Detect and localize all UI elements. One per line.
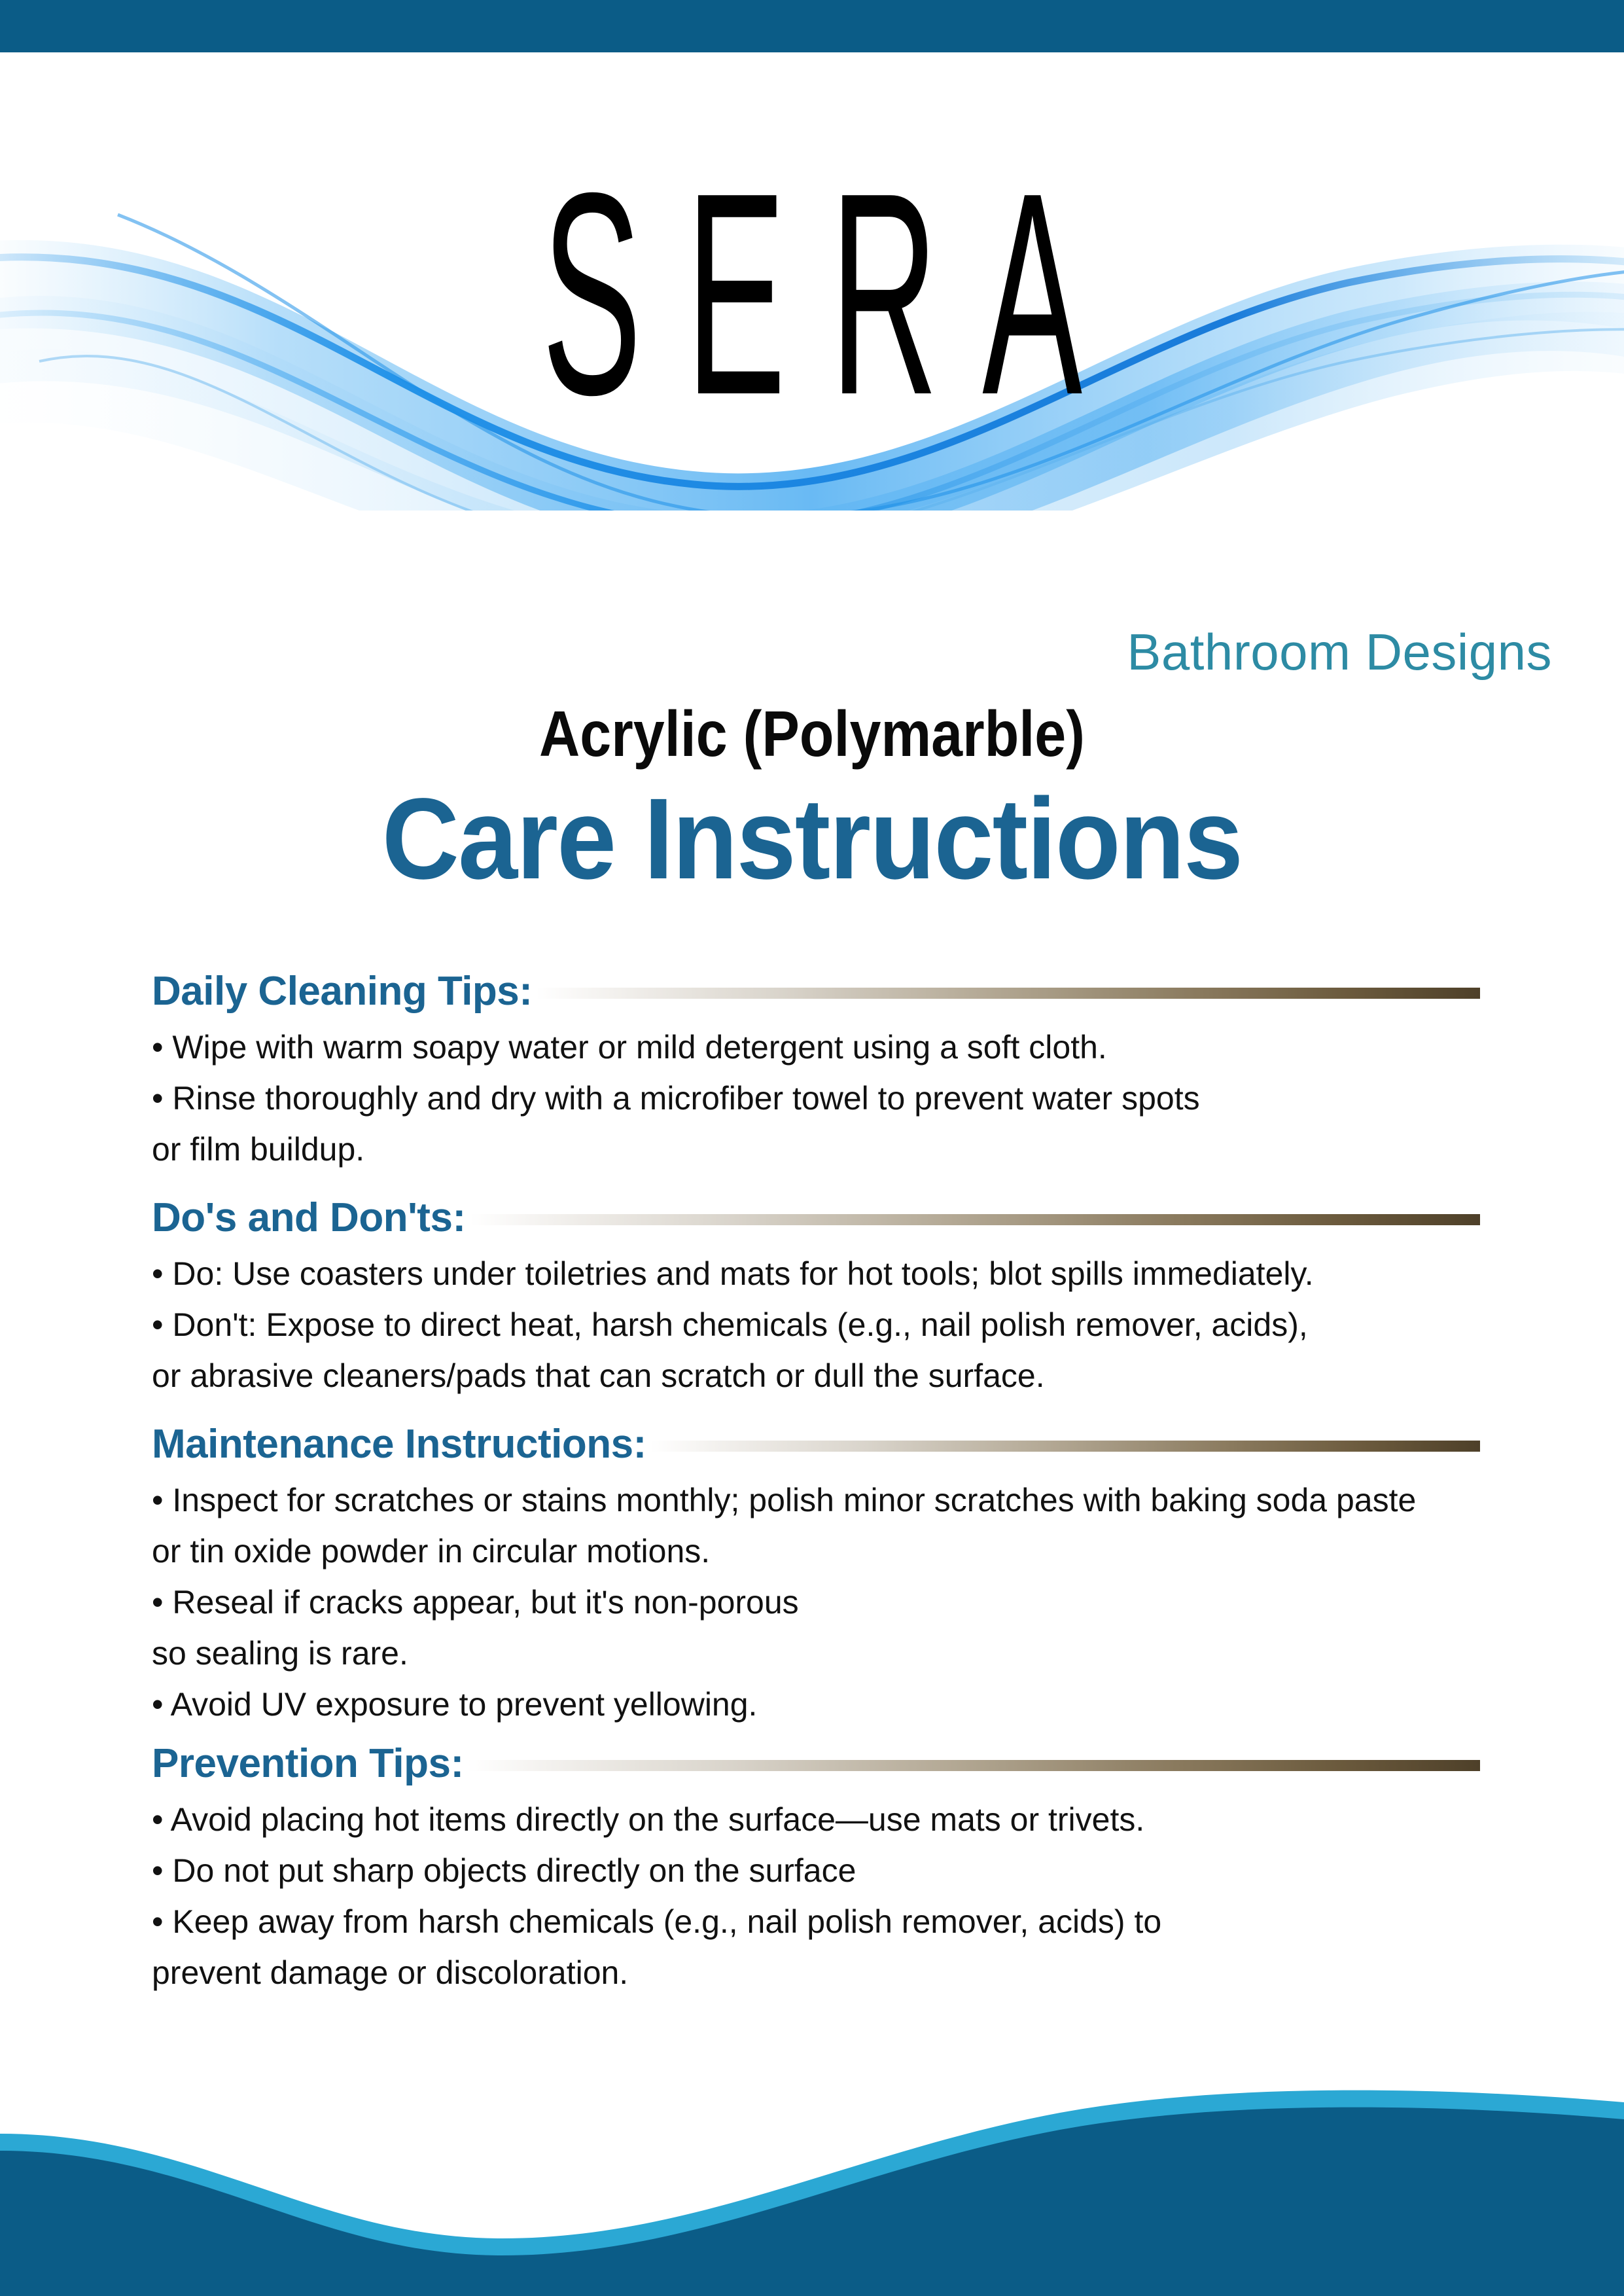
list-item-continuation: or film buildup. bbox=[152, 1126, 1480, 1173]
section-divider-rule bbox=[536, 988, 1480, 999]
list-item: • Do not put sharp objects directly on t… bbox=[152, 1847, 1480, 1894]
page-title: Care Instructions bbox=[57, 779, 1567, 899]
brand-logotype: SERA bbox=[390, 151, 1235, 439]
list-item: • Avoid UV exposure to prevent yellowing… bbox=[152, 1681, 1480, 1728]
list-item-continuation: or tin oxide powder in circular motions. bbox=[152, 1528, 1480, 1575]
brand-header: SERA Bathroom Designs bbox=[0, 52, 1624, 707]
list-item: • Keep away from harsh chemicals (e.g., … bbox=[152, 1898, 1480, 1945]
instructions-content: Daily Cleaning Tips: • Wipe with warm so… bbox=[152, 966, 1480, 2016]
section-title: Prevention Tips: bbox=[152, 1741, 464, 1787]
list-item: • Do: Use coasters under toiletries and … bbox=[152, 1250, 1480, 1297]
section-title: Maintenance Instructions: bbox=[152, 1422, 646, 1467]
section-header: Daily Cleaning Tips: bbox=[152, 966, 1480, 1017]
list-item: • Rinse thoroughly and dry with a microf… bbox=[152, 1075, 1480, 1122]
section-header: Prevention Tips: bbox=[152, 1738, 1480, 1789]
list-item: • Avoid placing hot items directly on th… bbox=[152, 1796, 1480, 1843]
section-header: Do's and Don'ts: bbox=[152, 1193, 1480, 1244]
section-maintenance-instructions: Maintenance Instructions: • Inspect for … bbox=[152, 1419, 1480, 1728]
section-divider-rule bbox=[650, 1441, 1480, 1452]
section-body: • Wipe with warm soapy water or mild det… bbox=[152, 1024, 1480, 1173]
section-divider-rule bbox=[468, 1760, 1480, 1771]
section-title: Do's and Don'ts: bbox=[152, 1195, 466, 1241]
section-daily-cleaning-tips: Daily Cleaning Tips: • Wipe with warm so… bbox=[152, 966, 1480, 1173]
section-dos-and-donts: Do's and Don'ts: • Do: Use coasters unde… bbox=[152, 1193, 1480, 1399]
list-item-continuation: or abrasive cleaners/pads that can scrat… bbox=[152, 1352, 1480, 1399]
section-divider-rule bbox=[470, 1214, 1480, 1225]
care-instructions-page: SERA Bathroom Designs Acrylic (Polymarbl… bbox=[0, 0, 1624, 2296]
top-accent-bar bbox=[0, 0, 1624, 52]
section-body: • Do: Use coasters under toiletries and … bbox=[152, 1250, 1480, 1399]
section-title: Daily Cleaning Tips: bbox=[152, 969, 532, 1014]
section-body: • Avoid placing hot items directly on th… bbox=[152, 1796, 1480, 1996]
section-body: • Inspect for scratches or stains monthl… bbox=[152, 1477, 1480, 1728]
list-item: • Reseal if cracks appear, but it's non-… bbox=[152, 1579, 1480, 1626]
section-prevention-tips: Prevention Tips: • Avoid placing hot ite… bbox=[152, 1738, 1480, 1996]
list-item-continuation: so sealing is rare. bbox=[152, 1630, 1480, 1677]
list-item: • Wipe with warm soapy water or mild det… bbox=[152, 1024, 1480, 1071]
list-item: • Don't: Expose to direct heat, harsh ch… bbox=[152, 1301, 1480, 1348]
list-item: • Inspect for scratches or stains monthl… bbox=[152, 1477, 1480, 1524]
brand-tagline: Bathroom Designs bbox=[1127, 622, 1552, 682]
section-header: Maintenance Instructions: bbox=[152, 1419, 1480, 1470]
footer-wave-graphic bbox=[0, 2073, 1624, 2296]
document-subject-title: Acrylic (Polymarble) bbox=[97, 699, 1527, 768]
list-item-continuation: prevent damage or discoloration. bbox=[152, 1949, 1480, 1996]
